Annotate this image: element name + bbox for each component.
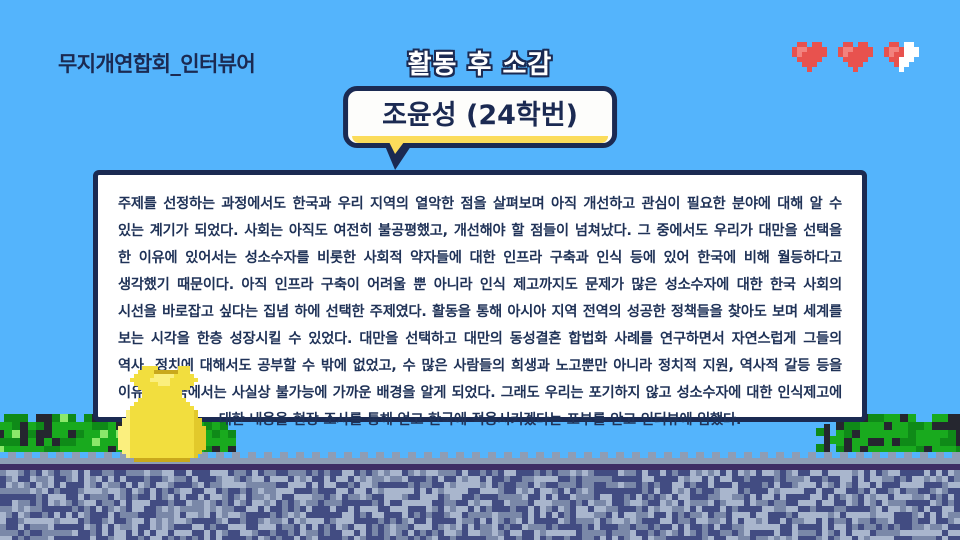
health-hearts [792, 42, 918, 72]
slide-canvas: 무지개연합회_인터뷰어 활동 후 소감 조윤성 (24학번) 주제를 선정하는 … [0, 0, 960, 540]
speaker-name-label: 조윤성 (24학번) [382, 100, 578, 131]
cobblestone-platform [0, 452, 960, 540]
bubble-tail-inner-icon [389, 142, 404, 154]
heart-icon-partial [884, 42, 918, 72]
money-bag-sprite [118, 366, 210, 460]
bubble-body: 조윤성 (24학번) [343, 86, 617, 148]
testimony-body-text: 주제를 선정하는 과정에서도 한국과 우리 지역의 열악한 점을 살펴보며 아직… [118, 191, 842, 434]
platform-stone-body [0, 470, 960, 540]
heart-icon [838, 42, 872, 72]
speaker-name-bubble: 조윤성 (24학번) [343, 86, 617, 148]
heart-icon [792, 42, 826, 72]
